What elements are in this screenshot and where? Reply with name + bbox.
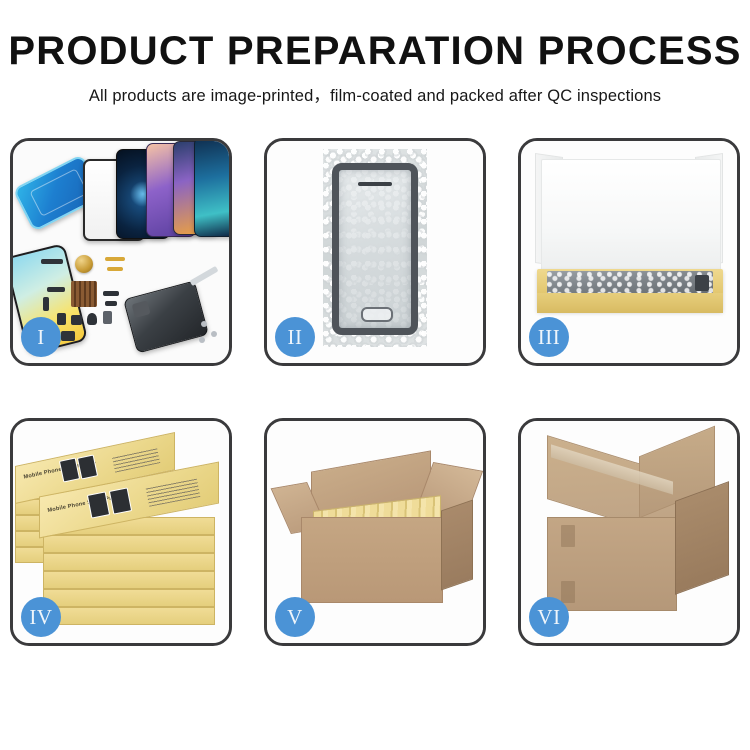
packed-screen-icon <box>547 271 713 295</box>
part-icon-11 <box>61 331 75 341</box>
flex-cable-icon-1 <box>105 257 125 261</box>
chip-array-part-icon <box>71 281 97 307</box>
phone-back-housing-icon <box>123 280 209 353</box>
carton-right-face <box>675 481 729 595</box>
page-title: PRODUCT PREPARATION PROCESS <box>0 30 750 72</box>
step-badge-1: I <box>21 317 61 357</box>
screw-icon-3 <box>199 337 205 343</box>
earpiece-slot-icon <box>358 182 392 186</box>
stacked-box-f3 <box>43 553 215 571</box>
step-badge-3: III <box>529 317 569 357</box>
header: PRODUCT PREPARATION PROCESS All products… <box>0 0 750 106</box>
stacked-box-f4 <box>43 571 215 589</box>
carton-side-face <box>441 499 473 590</box>
step-badge-5: V <box>275 597 315 637</box>
teal-screen-icon <box>194 141 229 237</box>
part-icon-2 <box>47 287 65 292</box>
page-subtitle: All products are image-printed，film-coat… <box>0 82 750 106</box>
part-icon-8 <box>87 313 97 325</box>
step-panel-5: V <box>264 418 486 646</box>
part-icon-3 <box>43 297 49 311</box>
carton-tab-lower <box>561 581 575 603</box>
tweezers-icon <box>190 266 219 286</box>
part-icon-9 <box>103 311 112 324</box>
stacked-box-f5 <box>43 589 215 607</box>
process-step-grid: I II III <box>10 138 740 683</box>
step-panel-3: III <box>518 138 740 366</box>
stacked-box-f2 <box>43 535 215 553</box>
home-button-icon <box>361 307 393 322</box>
step-panel-1: I <box>10 138 232 366</box>
stacked-box-f6 <box>43 607 215 625</box>
step-panel-4: Mobile Phone Spare Parts Mobile Phone Sp… <box>10 418 232 646</box>
coil-part-icon <box>75 255 93 273</box>
part-icon-1 <box>41 259 63 264</box>
part-icon-7 <box>71 315 82 325</box>
screw-icon-2 <box>211 331 217 337</box>
carton-front-face <box>301 517 443 603</box>
carton-tab-upper <box>561 525 575 547</box>
part-icon-6 <box>57 313 66 325</box>
wrapped-screen-icon <box>332 163 418 335</box>
step-badge-6: VI <box>529 597 569 637</box>
screw-icon-1 <box>201 321 207 327</box>
flex-cable-icon-2 <box>107 267 123 271</box>
kraft-tray-front <box>537 293 723 313</box>
step-badge-4: IV <box>21 597 61 637</box>
part-icon-4 <box>103 291 119 296</box>
step-badge-2: II <box>275 317 315 357</box>
foam-padding <box>541 159 721 273</box>
part-icon-5 <box>105 301 117 306</box>
product-preparation-poster: PRODUCT PREPARATION PROCESS All products… <box>0 0 750 750</box>
step-panel-6: VI <box>518 418 740 646</box>
step-panel-2: II <box>264 138 486 366</box>
